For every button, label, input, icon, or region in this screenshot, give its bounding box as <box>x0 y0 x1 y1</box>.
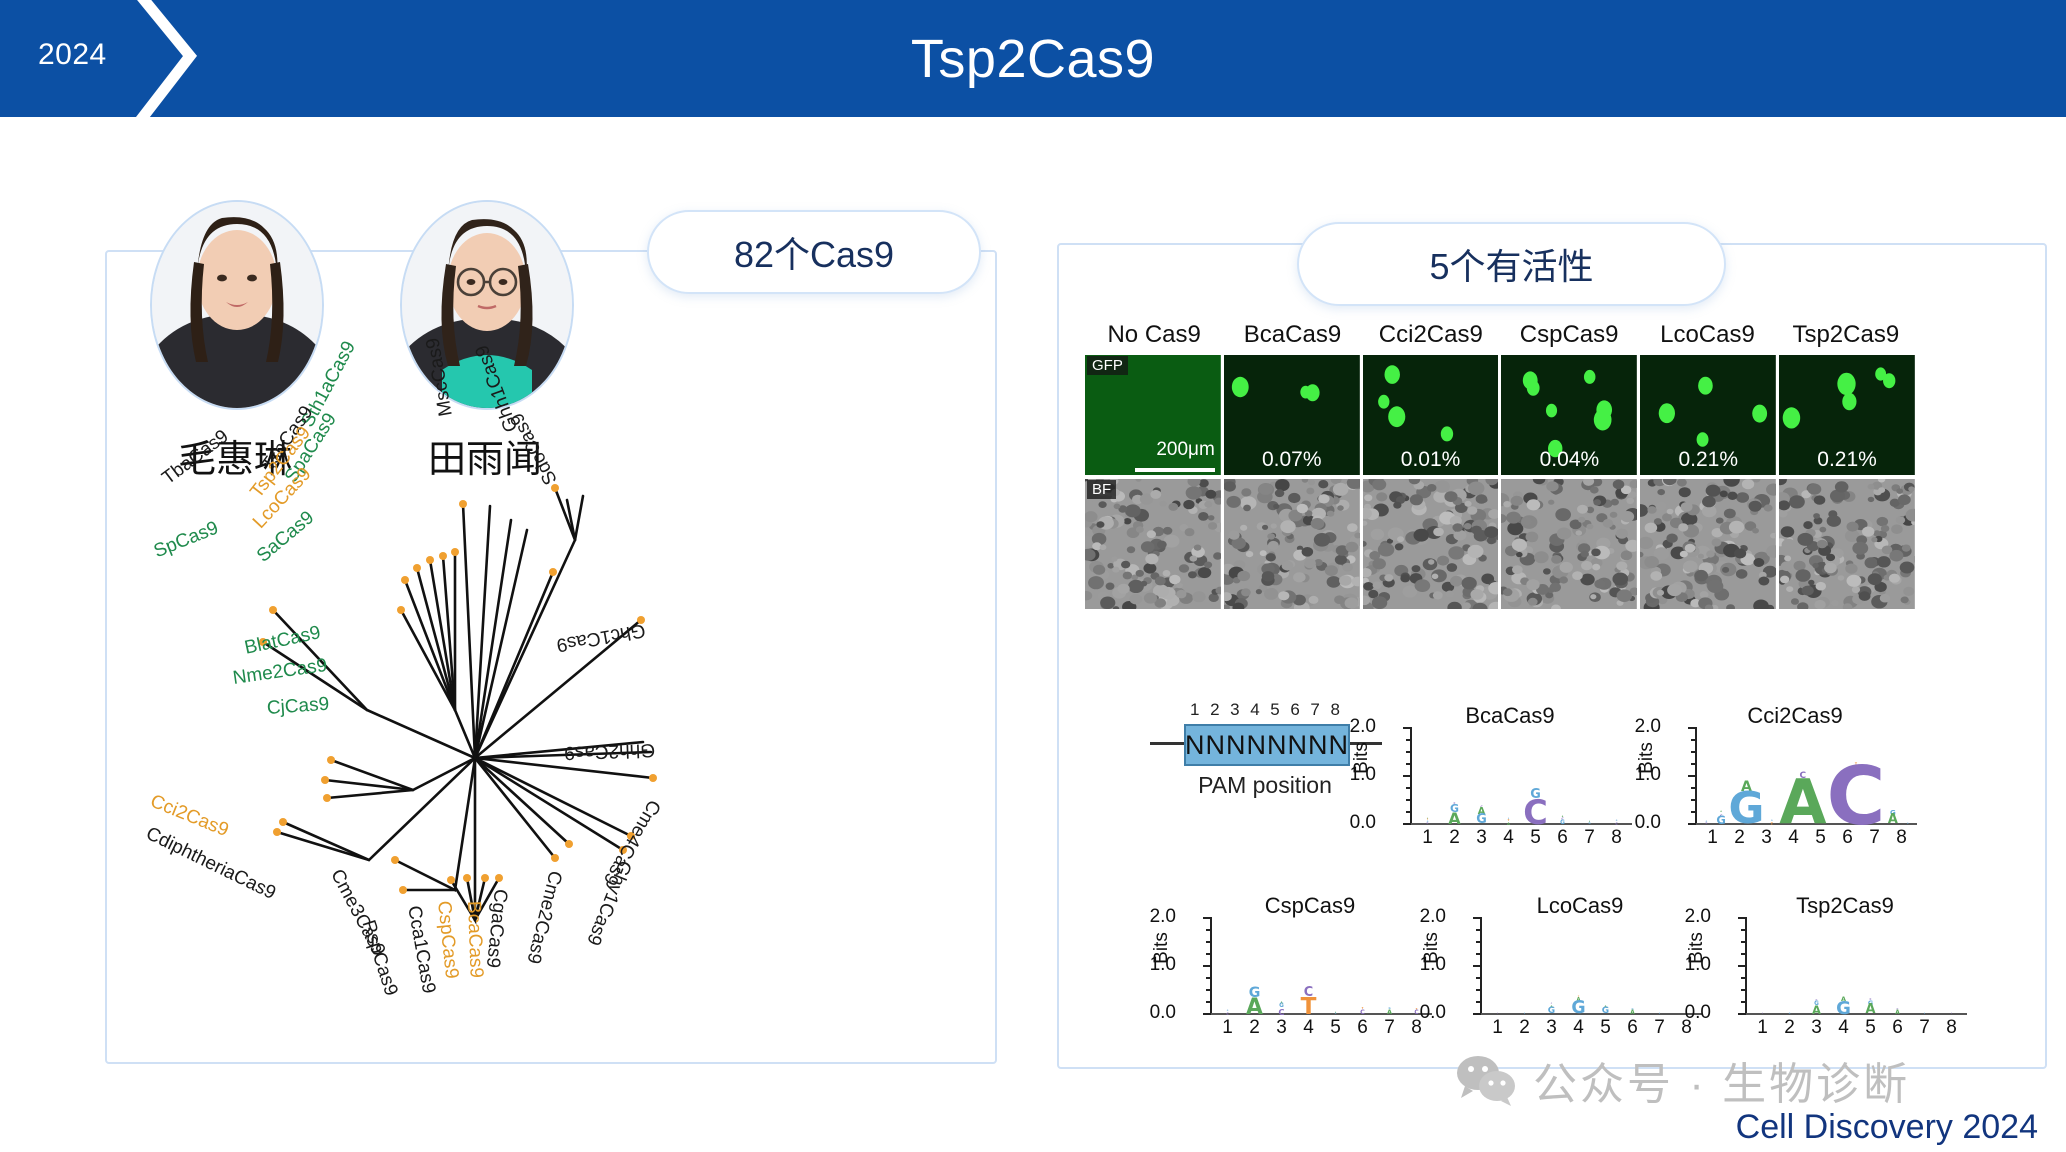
gfp-image-2: 0.01% <box>1363 355 1499 475</box>
logo-column-3: CGA <box>1803 917 1830 1015</box>
logo-chart-cci2cas9: Cci2Cas9Bits0.01.02.0GCACGAGGTCATCGAG123… <box>1665 705 1925 855</box>
logo-column-4: TAG <box>1565 917 1592 1015</box>
logo-columns: ATGCCGACAGGTAGCACGAGGC <box>1414 727 1630 825</box>
logo-xtick: 7 <box>1376 1017 1403 1039</box>
logo-ytick-minor <box>1476 941 1481 943</box>
logo-ytick-minor <box>1406 739 1411 741</box>
microscopy-figure: No Cas9BcaCas9Cci2Cas9CspCas9LcoCas9Tsp2… <box>1085 355 1915 635</box>
logo-ytick-label: 0.0 <box>1685 1002 1711 1024</box>
logo-ytick-minor <box>1741 989 1746 991</box>
logo-ytick-minor <box>1691 763 1696 765</box>
logo-base-G: G <box>1729 792 1765 825</box>
bf-image-0: BF <box>1085 479 1221 609</box>
bf-image-1 <box>1224 479 1360 609</box>
logo-base-C: C <box>1497 1014 1498 1015</box>
logo-ytick-minor <box>1741 941 1746 943</box>
logo-base-A: A <box>1888 815 1898 825</box>
logo-ytick-minor <box>1206 1001 1211 1003</box>
scale-bar <box>1135 468 1215 472</box>
logo-ytick-minor <box>1691 751 1696 753</box>
logo-xtick: 3 <box>1468 827 1495 849</box>
logo-xtick: 8 <box>1938 1017 1965 1039</box>
logo-column-7: GA <box>1376 917 1403 1015</box>
logo-columns: CGCGAAGCGACAGC <box>1749 917 1965 1015</box>
logo-base-A: A <box>1812 1006 1821 1015</box>
logo-column-5: AG <box>1322 917 1349 1015</box>
pam-pos-1: 1 <box>1190 700 1199 720</box>
logo-base-C: C <box>1427 823 1429 825</box>
logo-base-C: C <box>1414 1011 1418 1015</box>
logo-column-5: CGA <box>1857 917 1884 1015</box>
logo-xtick: 2 <box>1241 1017 1268 1039</box>
logo-column-5: GC <box>1522 727 1549 825</box>
logo-base-G: G <box>1836 1002 1851 1015</box>
gfp-image-4: 0.21% <box>1640 355 1776 475</box>
logo-ytick-minor <box>1691 811 1696 813</box>
pam-pos-5: 5 <box>1270 700 1279 720</box>
logo-column-7: AG <box>1576 727 1603 825</box>
logo-xtick: 1 <box>1414 827 1441 849</box>
microscopy-header-5: Tsp2Cas9 <box>1777 321 1915 349</box>
logo-ytick-label: 0.0 <box>1150 1002 1176 1024</box>
microscopy-header-0: No Cas9 <box>1085 321 1223 349</box>
gfp-percent-1: 0.07% <box>1224 448 1360 472</box>
gfp-image-0: GFP200μm <box>1085 355 1221 475</box>
logo-base-G: G <box>1588 823 1590 825</box>
logo-column-6: CA <box>1884 917 1911 1015</box>
logo-xtick: 6 <box>1349 1017 1376 1039</box>
badge-active-count: 5个有活性 <box>1297 222 1726 306</box>
logo-ytick-minor <box>1741 953 1746 955</box>
logo-base-G: G <box>1602 1008 1609 1015</box>
logo-xtick: 4 <box>1830 1017 1857 1039</box>
logo-column-6: GA <box>1619 917 1646 1015</box>
logo-ytick-minor <box>1406 799 1411 801</box>
logo-ytick <box>1203 1013 1211 1015</box>
logo-base-C: C <box>1762 1014 1763 1015</box>
gfp-row-tag: GFP <box>1087 356 1128 375</box>
logo-title: CspCas9 <box>1180 893 1440 919</box>
pam-line-left <box>1150 742 1186 745</box>
logo-base-G: G <box>1716 816 1726 825</box>
logo-base-T: T <box>1301 998 1317 1015</box>
logo-ytick-label: 2.0 <box>1150 906 1176 928</box>
logo-ytick <box>1403 823 1411 825</box>
microscopy-header-2: Cci2Cas9 <box>1362 321 1500 349</box>
logo-xticks: 12345678 <box>1214 1017 1430 1039</box>
logo-base-G: G <box>1907 824 1909 825</box>
microscopy-gfp-row: GFP200μm0.07%0.01%0.04%0.21%0.21% <box>1085 355 1915 475</box>
microscopy-header-3: CspCas9 <box>1500 321 1638 349</box>
logo-ytick-label: 1.0 <box>1685 954 1711 976</box>
logo-xtick: 5 <box>1807 827 1834 849</box>
logo-column-4: CT <box>1295 917 1322 1015</box>
logo-base-C: C <box>1278 1009 1284 1015</box>
logo-xtick: 5 <box>1857 1017 1884 1039</box>
logo-xtick: 3 <box>1538 1017 1565 1039</box>
logo-base-C: C <box>1951 1014 1952 1015</box>
logo-ytick-minor <box>1476 1001 1481 1003</box>
logo-xticks: 12345678 <box>1699 827 1915 849</box>
logo-xtick: 7 <box>1576 827 1603 849</box>
phylogenetic-tree: Sth1aCas9SpaCas9TspCas9Tsp2Cas9LcoCas9Sa… <box>155 460 930 1040</box>
logo-title: BcaCas9 <box>1380 703 1640 729</box>
logo-ytick-minor <box>1691 799 1696 801</box>
logo-base-G: G <box>1924 1014 1925 1015</box>
logo-base-G: G <box>1659 1014 1660 1015</box>
logo-column-4: AG <box>1830 917 1857 1015</box>
logo-ytick <box>1473 1013 1481 1015</box>
logo-base-A: A <box>1779 779 1826 825</box>
logo-column-1: GC <box>1214 917 1241 1015</box>
logo-ytick <box>1738 1013 1746 1015</box>
logo-ytick-minor <box>1741 977 1746 979</box>
logo-xtick: 2 <box>1726 827 1753 849</box>
logo-ytick <box>1688 727 1696 729</box>
gfp-percent-2: 0.01% <box>1363 448 1499 472</box>
logo-ytick <box>1403 775 1411 777</box>
logo-ytick <box>1738 917 1746 919</box>
logo-xtick: 1 <box>1214 1017 1241 1039</box>
pam-sequence-box: NNNNNNNN <box>1184 724 1350 766</box>
logo-column-1: C <box>1484 917 1511 1015</box>
pam-caption: PAM position <box>1150 772 1380 799</box>
badge-cas9-count: 82个Cas9 <box>647 210 981 294</box>
logo-ytick-label: 0.0 <box>1350 812 1376 834</box>
logo-ytick-label: 1.0 <box>1635 764 1661 786</box>
logo-xtick: 3 <box>1753 827 1780 849</box>
logo-xtick: 6 <box>1884 1017 1911 1039</box>
pam-pos-2: 2 <box>1210 700 1219 720</box>
logo-xtick: 3 <box>1803 1017 1830 1039</box>
logo-column-3: CAG <box>1538 917 1565 1015</box>
logo-chart-lcocas9: LcoCas9Bits0.01.02.0CGCAGTAGAGGAGC123456… <box>1450 895 1710 1045</box>
logo-xtick: 4 <box>1565 1017 1592 1039</box>
logo-ytick-minor <box>1691 739 1696 741</box>
logo-ytick <box>1203 965 1211 967</box>
logo-base-G: G <box>1476 815 1487 825</box>
logo-column-7: G <box>1911 917 1938 1015</box>
logo-ytick-label: 0.0 <box>1635 812 1661 834</box>
logo-title: Tsp2Cas9 <box>1715 893 1975 919</box>
scale-bar-label: 200μm <box>1156 439 1214 461</box>
gfp-percent-5: 0.21% <box>1779 448 1915 472</box>
logo-xtick: 2 <box>1441 827 1468 849</box>
logo-base-C: C <box>1523 800 1548 825</box>
logo-column-6: TC <box>1349 917 1376 1015</box>
logo-column-8: G <box>1900 727 1915 825</box>
logo-ytick-minor <box>1406 763 1411 765</box>
logo-xticks: 12345678 <box>1414 827 1630 849</box>
logo-xticks: 12345678 <box>1749 1017 1965 1039</box>
logo-ytick-minor <box>1741 1001 1746 1003</box>
logo-xtick: 8 <box>1603 827 1630 849</box>
logo-chart-cspcas9: CspCas9Bits0.01.02.0GCGAAGCCTAGTCGATC123… <box>1180 895 1440 1045</box>
pam-pos-7: 7 <box>1310 700 1319 720</box>
wechat-label: 公众号 · 生物诊断 <box>1533 1048 1910 1112</box>
tree-label-cjcas9: CjCas9 <box>266 694 330 720</box>
citation-label: Cell Discovery 2024 <box>1736 1108 2038 1147</box>
logo-column-3: AGC <box>1268 917 1295 1015</box>
logo-ytick-minor <box>1206 941 1211 943</box>
logo-column-2: ACG <box>1714 727 1729 825</box>
logo-column-1: ATGC <box>1414 727 1441 825</box>
bf-row-tag: BF <box>1087 480 1116 499</box>
logo-base-C: C <box>1360 1010 1365 1015</box>
pam-pos-8: 8 <box>1330 700 1339 720</box>
bf-image-5 <box>1779 479 1915 609</box>
logo-column-4: GT <box>1764 727 1779 825</box>
logo-column-6: TC <box>1826 727 1885 825</box>
logo-ytick-label: 0.0 <box>1420 1002 1446 1024</box>
logo-xtick: 1 <box>1484 1017 1511 1039</box>
logo-column-5: CA <box>1779 727 1826 825</box>
logo-base-C: C <box>1226 1013 1228 1015</box>
logo-ytick-minor <box>1406 751 1411 753</box>
logo-column-4: GTA <box>1495 727 1522 825</box>
logo-base-G: G <box>1548 1008 1555 1015</box>
logo-ytick-minor <box>1741 929 1746 931</box>
logo-ytick <box>1473 965 1481 967</box>
gfp-image-5: 0.21% <box>1779 355 1915 475</box>
microscopy-header-1: BcaCas9 <box>1223 321 1361 349</box>
logo-ytick-label: 2.0 <box>1420 906 1446 928</box>
gfp-percent-3: 0.04% <box>1501 448 1637 472</box>
logo-ytick-label: 1.0 <box>1420 954 1446 976</box>
logo-ytick-minor <box>1691 787 1696 789</box>
logo-column-1: GC <box>1699 727 1714 825</box>
logo-base-A: A <box>1895 1011 1899 1015</box>
pam-pos-4: 4 <box>1250 700 1259 720</box>
logo-column-6: ACG <box>1549 727 1576 825</box>
logo-column-8: C <box>1938 917 1965 1015</box>
logo-xtick: 3 <box>1268 1017 1295 1039</box>
logo-base-G: G <box>1789 1014 1791 1015</box>
logo-column-1: C <box>1749 917 1776 1015</box>
logo-base-C: C <box>1826 765 1885 825</box>
logo-ytick-minor <box>1406 787 1411 789</box>
logo-column-7: GA <box>1885 727 1900 825</box>
logo-xtick: 7 <box>1861 827 1888 849</box>
logo-base-A: A <box>1507 822 1510 825</box>
logo-column-2: G <box>1776 917 1803 1015</box>
logo-xtick: 5 <box>1322 1017 1349 1039</box>
pam-position-diagram: 12345678 NNNNNNNN PAM position <box>1150 700 1380 810</box>
logo-ytick-label: 2.0 <box>1635 716 1661 738</box>
logo-column-2: CGA <box>1441 727 1468 825</box>
tree-label-ghh2cas9: Ghh2Cas9 <box>564 738 656 763</box>
logo-ytick-minor <box>1476 953 1481 955</box>
logo-ytick-minor <box>1406 811 1411 813</box>
logo-column-2: GA <box>1241 917 1268 1015</box>
logo-xtick: 6 <box>1834 827 1861 849</box>
logo-xtick: 2 <box>1776 1017 1803 1039</box>
logo-columns: CGCAGTAGAGGAGC <box>1484 917 1700 1015</box>
logo-base-A: A <box>1866 1005 1876 1015</box>
logo-column-7: G <box>1646 917 1673 1015</box>
logo-base-G: G <box>1335 1014 1337 1015</box>
logo-columns: GCACGAGGTCATCGAG <box>1699 727 1915 825</box>
logo-column-3: AG <box>1729 727 1765 825</box>
logo-ytick-minor <box>1206 953 1211 955</box>
logo-xtick: 2 <box>1511 1017 1538 1039</box>
logo-ytick-label: 2.0 <box>1350 716 1376 738</box>
logo-base-G: G <box>1571 1002 1585 1015</box>
logo-title: LcoCas9 <box>1450 893 1710 919</box>
logo-ytick-label: 1.0 <box>1350 764 1376 786</box>
wechat-watermark: 公众号 · 生物诊断 <box>1455 1048 1910 1112</box>
logo-columns: GCGAAGCCTAGTCGATC <box>1214 917 1430 1015</box>
logo-base-A: A <box>1246 999 1263 1015</box>
logo-ytick <box>1203 917 1211 919</box>
logo-ytick-minor <box>1206 929 1211 931</box>
logo-ytick-minor <box>1476 977 1481 979</box>
logo-chart-bcacas9: BcaCas9Bits0.01.02.0ATGCCGACAGGTAGCACGAG… <box>1380 705 1640 855</box>
logo-base-C: C <box>1705 823 1707 825</box>
logo-ytick <box>1403 727 1411 729</box>
logo-base-A: A <box>1387 1010 1392 1015</box>
logo-xtick: 5 <box>1522 827 1549 849</box>
microscopy-header-4: LcoCas9 <box>1638 321 1776 349</box>
microscopy-column-headers: No Cas9BcaCas9Cci2Cas9CspCas9LcoCas9Tsp2… <box>1085 321 1915 349</box>
logo-ytick <box>1688 823 1696 825</box>
logo-xtick: 1 <box>1699 827 1726 849</box>
microscopy-bf-row: BF <box>1085 479 1915 609</box>
wechat-icon <box>1455 1054 1517 1106</box>
logo-base-A: A <box>1630 1011 1634 1015</box>
logo-chart-tsp2cas9: Tsp2Cas9Bits0.01.02.0CGCGAAGCGACAGC12345… <box>1715 895 1975 1045</box>
logo-xtick: 6 <box>1549 827 1576 849</box>
logo-ytick-minor <box>1476 989 1481 991</box>
pam-position-numbers: 12345678 <box>1190 700 1340 720</box>
logo-xtick: 8 <box>1888 827 1915 849</box>
logo-column-3: CAG <box>1468 727 1495 825</box>
bf-image-3 <box>1501 479 1637 609</box>
logo-xtick: 7 <box>1911 1017 1938 1039</box>
bf-image-4 <box>1640 479 1776 609</box>
logo-xtick: 4 <box>1295 1017 1322 1039</box>
logo-title: Cci2Cas9 <box>1665 703 1925 729</box>
logo-base-A: A <box>1448 813 1460 825</box>
logo-xtick: 5 <box>1592 1017 1619 1039</box>
gfp-percent-4: 0.21% <box>1640 448 1776 472</box>
logo-xtick: 4 <box>1780 827 1807 849</box>
logo-column-5: AG <box>1592 917 1619 1015</box>
logo-base-G: G <box>1560 821 1565 825</box>
avatar <box>150 200 324 410</box>
logo-xticks: 12345678 <box>1484 1017 1700 1039</box>
logo-column-8: GC <box>1603 727 1630 825</box>
logo-ytick <box>1688 775 1696 777</box>
gfp-image-1: 0.07% <box>1224 355 1360 475</box>
logo-ytick-label: 2.0 <box>1685 906 1711 928</box>
logo-xtick: 1 <box>1749 1017 1776 1039</box>
page-header: 2024 Tsp2Cas9 <box>0 0 2066 117</box>
logo-ytick-label: 1.0 <box>1150 954 1176 976</box>
logo-ytick-minor <box>1206 989 1211 991</box>
logo-ytick-minor <box>1476 929 1481 931</box>
pam-pos-3: 3 <box>1230 700 1239 720</box>
logo-ytick <box>1473 917 1481 919</box>
logo-base-C: C <box>1615 823 1617 825</box>
logo-base-T: T <box>1771 823 1773 825</box>
logo-base-G: G <box>1524 1014 1525 1015</box>
pam-pos-6: 6 <box>1290 700 1299 720</box>
logo-xtick: 4 <box>1495 827 1522 849</box>
page-title: Tsp2Cas9 <box>0 0 2066 117</box>
logo-xtick: 7 <box>1646 1017 1673 1039</box>
logo-ytick-minor <box>1206 977 1211 979</box>
bf-image-2 <box>1363 479 1499 609</box>
gfp-image-3: 0.04% <box>1501 355 1637 475</box>
logo-xtick: 6 <box>1619 1017 1646 1039</box>
logo-ytick <box>1738 965 1746 967</box>
logo-column-2: G <box>1511 917 1538 1015</box>
